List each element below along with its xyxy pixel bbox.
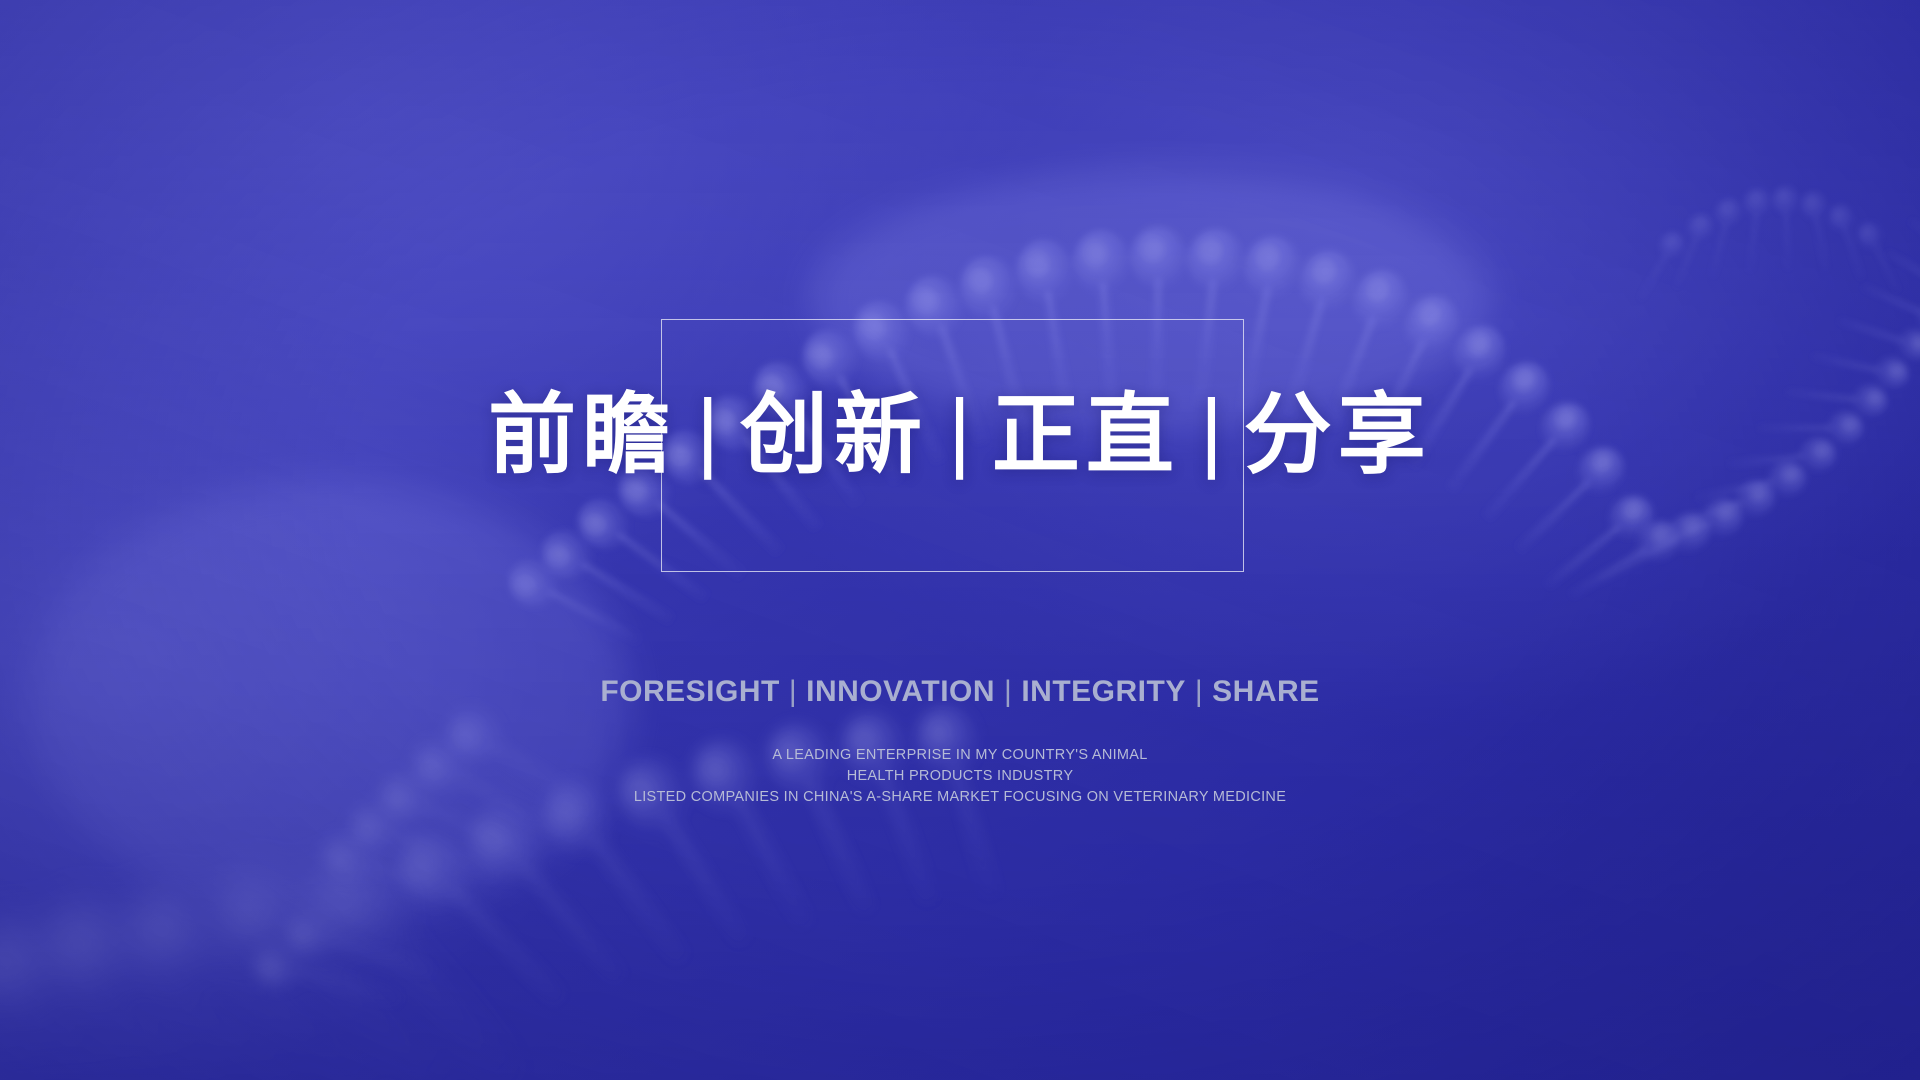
headline-chinese: 前瞻|创新|正直|分享 [0,386,1920,484]
subheadline-english: FORESIGHT|INNOVATION|INTEGRITY|SHARE [0,673,1920,711]
caption-block: A LEADING ENTERPRISE IN MY COUNTRY'S ANI… [0,745,1920,808]
subheadline-separator-2: | [995,673,1021,711]
caption-line-1: A LEADING ENTERPRISE IN MY COUNTRY'S ANI… [0,745,1920,766]
headline-separator-2: | [928,382,992,480]
subheadline-word-1: FORESIGHT [600,675,780,708]
slide-content: 前瞻|创新|正直|分享 FORESIGHT|INNOVATION|INTEGRI… [0,0,1920,1080]
subheadline-word-3: INTEGRITY [1021,675,1186,708]
slide-stage: 前瞻|创新|正直|分享 FORESIGHT|INNOVATION|INTEGRI… [0,0,1920,1080]
subheadline-word-4: SHARE [1212,675,1320,708]
subheadline-separator-1: | [780,673,806,711]
subheadline-separator-3: | [1186,673,1212,711]
caption-line-3: LISTED COMPANIES IN CHINA'S A-SHARE MARK… [0,787,1920,808]
headline-word-2: 创新 [740,386,928,484]
headline-word-4: 分享 [1244,386,1432,484]
headline-separator-1: | [676,382,740,480]
headline-word-3: 正直 [992,386,1180,484]
headline-word-1: 前瞻 [488,386,676,484]
caption-line-2: HEALTH PRODUCTS INDUSTRY [0,766,1920,787]
headline-separator-3: | [1180,382,1244,480]
subheadline-word-2: INNOVATION [806,675,995,708]
